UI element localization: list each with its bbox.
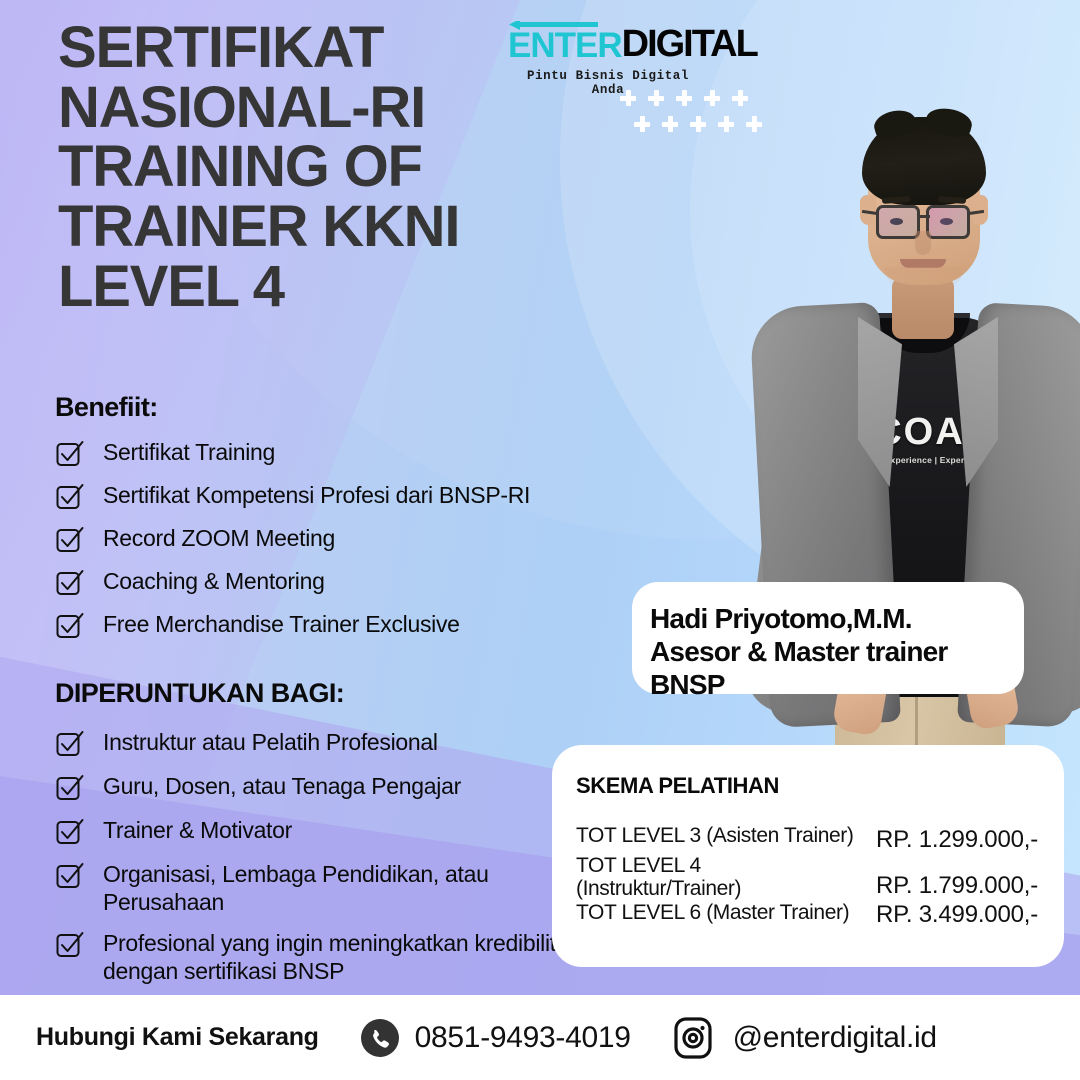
list-item: Sertifikat Kompetensi Profesi dari BNSP-…	[55, 480, 595, 512]
list-item: Trainer & Motivator	[55, 815, 595, 847]
checkbox-checked-icon	[55, 439, 85, 469]
cross-icon	[718, 116, 734, 132]
checkbox-checked-icon	[55, 729, 85, 759]
instagram-icon	[671, 1016, 715, 1060]
cross-icon	[732, 90, 748, 106]
speaker-role: Asesor & Master trainer BNSP	[650, 635, 1024, 701]
cross-icon	[746, 116, 762, 132]
pricing-level-price: RP. 1.299.000,-	[876, 825, 1038, 853]
cross-icon	[662, 116, 678, 132]
cross-icon	[704, 90, 720, 106]
benefit-heading: Benefiit:	[55, 392, 595, 423]
checkbox-checked-icon	[55, 930, 85, 960]
headline-line-3: TRAINING OF	[58, 137, 528, 197]
left-arrow-icon	[508, 21, 600, 31]
pricing-level-sublabel: (Instruktur/Trainer)	[576, 878, 876, 901]
contact-cta-label: Hubungi Kami Sekarang	[36, 1023, 319, 1052]
target-item-label: Instruktur atau Pelatih Profesional	[103, 727, 438, 756]
checkbox-checked-icon	[55, 525, 85, 555]
contact-phone[interactable]: 0851-9493-4019	[361, 1019, 631, 1057]
cross-icon	[676, 90, 692, 106]
pricing-rows: TOT LEVEL 3 (Asisten Trainer) RP. 1.299.…	[576, 825, 1040, 928]
list-item: Profesional yang ingin meningkatkan kred…	[55, 928, 595, 985]
list-item: Organisasi, Lembaga Pendidikan, atau Per…	[55, 859, 595, 916]
target-item-label: Guru, Dosen, atau Tenaga Pengajar	[103, 771, 461, 800]
pricing-card: SKEMA PELATIHAN TOT LEVEL 3 (Asisten Tra…	[552, 745, 1064, 967]
cross-decoration-group	[620, 90, 770, 140]
target-heading: DIPERUNTUKAN BAGI:	[55, 678, 595, 709]
target-audience-section: DIPERUNTUKAN BAGI: Instruktur atau Pelat…	[55, 678, 595, 997]
list-item: Record ZOOM Meeting	[55, 523, 595, 555]
pricing-level-price: RP. 3.499.000,-	[876, 902, 1038, 928]
photo-glasses-lens-right	[926, 205, 970, 239]
checkbox-checked-icon	[55, 861, 85, 891]
benefit-item-label: Free Merchandise Trainer Exclusive	[103, 609, 460, 638]
list-item: Free Merchandise Trainer Exclusive	[55, 609, 595, 641]
checkbox-checked-icon	[55, 482, 85, 512]
cross-icon	[634, 116, 650, 132]
headline-line-5: LEVEL 4	[58, 257, 528, 317]
list-item: Guru, Dosen, atau Tenaga Pengajar	[55, 771, 595, 803]
contact-instagram-handle: @enterdigital.id	[733, 1021, 937, 1055]
checkbox-checked-icon	[55, 817, 85, 847]
cross-icon	[620, 90, 636, 106]
contact-instagram[interactable]: @enterdigital.id	[671, 1016, 937, 1060]
pricing-level-price: RP. 1.799.000,-	[876, 855, 1038, 899]
benefit-section: Benefiit: Sertifikat Training Sertifikat…	[55, 392, 595, 652]
pricing-heading: SKEMA PELATIHAN	[576, 773, 1040, 799]
logo-enter-text: ENTER	[508, 30, 622, 62]
page-title: SERTIFIKAT NASIONAL-RI TRAINING OF TRAIN…	[58, 18, 528, 317]
logo-digital-text: DIGITAL	[622, 27, 757, 62]
list-item: Sertifikat Training	[55, 437, 595, 469]
table-row: TOT LEVEL 4 (Instruktur/Trainer) RP. 1.7…	[576, 855, 1040, 900]
benefit-item-label: Sertifikat Kompetensi Profesi dari BNSP-…	[103, 480, 530, 509]
contact-phone-number: 0851-9493-4019	[415, 1021, 631, 1055]
target-item-label: Trainer & Motivator	[103, 815, 292, 844]
checkbox-checked-icon	[55, 611, 85, 641]
table-row: TOT LEVEL 6 (Master Trainer) RP. 3.499.0…	[576, 902, 1040, 928]
photo-glasses-lens-left	[876, 205, 920, 239]
logo-enter-block: ENTER	[508, 22, 622, 62]
target-item-label: Profesional yang ingin meningkatkan kred…	[103, 928, 595, 985]
pricing-level-label: TOT LEVEL 4	[576, 854, 701, 877]
pricing-level-label-block: TOT LEVEL 4 (Instruktur/Trainer)	[576, 855, 876, 900]
target-item-label: Organisasi, Lembaga Pendidikan, atau Per…	[103, 859, 595, 916]
speaker-name: Hadi Priyotomo,M.M.	[650, 602, 1024, 635]
checkbox-checked-icon	[55, 568, 85, 598]
benefit-item-label: Record ZOOM Meeting	[103, 523, 335, 552]
photo-glasses-bridge	[918, 215, 930, 218]
pricing-level-label: TOT LEVEL 3 (Asisten Trainer)	[576, 825, 876, 848]
brand-logo: ENTER DIGITAL Pintu Bisnis Digital Anda	[508, 22, 748, 97]
speaker-name-card: Hadi Priyotomo,M.M. Asesor & Master trai…	[632, 582, 1024, 694]
headline-line-2: NASIONAL-RI	[58, 78, 528, 138]
photo-chin-shadow	[884, 267, 964, 289]
cross-icon	[690, 116, 706, 132]
phone-icon	[361, 1019, 399, 1057]
benefit-item-label: Coaching & Mentoring	[103, 566, 325, 595]
headline-line-4: TRAINER KKNI	[58, 197, 528, 257]
table-row: TOT LEVEL 3 (Asisten Trainer) RP. 1.299.…	[576, 825, 1040, 853]
benefit-item-label: Sertifikat Training	[103, 437, 275, 466]
checkbox-checked-icon	[55, 773, 85, 803]
poster-canvas: G-COACH Exploration | Experience | Exper…	[0, 0, 1080, 1080]
headline-line-1: SERTIFIKAT	[58, 18, 528, 78]
cross-icon	[648, 90, 664, 106]
list-item: Instruktur atau Pelatih Profesional	[55, 727, 595, 759]
photo-nose	[915, 231, 931, 255]
contact-footer: Hubungi Kami Sekarang 0851-9493-4019 @en…	[0, 995, 1080, 1080]
logo-wordmark-row: ENTER DIGITAL	[508, 22, 748, 62]
list-item: Coaching & Mentoring	[55, 566, 595, 598]
pricing-level-label: TOT LEVEL 6 (Master Trainer)	[576, 902, 876, 925]
